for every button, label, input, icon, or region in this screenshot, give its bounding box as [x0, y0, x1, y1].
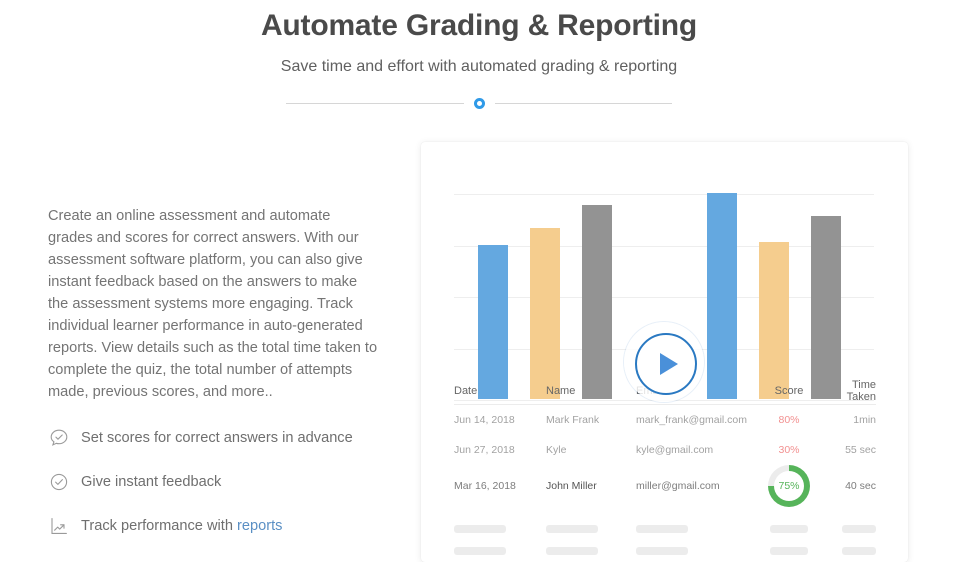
- cell-time-taken: 40 sec: [822, 480, 876, 492]
- placeholder-bar: [546, 547, 598, 555]
- page-title: Automate Grading & Reporting: [0, 6, 958, 46]
- placeholder-cell: [636, 525, 756, 533]
- score-donut-chart: 75%: [768, 465, 810, 507]
- placeholder-bar: [842, 547, 876, 555]
- feature-label-prefix: Track performance with: [81, 518, 237, 534]
- cell-date: Mar 16, 2018: [454, 480, 546, 492]
- table-row[interactable]: Mar 16, 2018John Millermiller@gmail.com7…: [454, 465, 876, 507]
- chart-bar: [478, 245, 508, 400]
- placeholder-bar: [454, 525, 506, 533]
- check-circle-icon: [48, 471, 70, 493]
- placeholder-bar: [842, 525, 876, 533]
- placeholder-cell: [546, 525, 636, 533]
- placeholder-bar: [454, 547, 506, 555]
- cell-date: Jun 27, 2018: [454, 444, 546, 456]
- cell-score: 80%: [756, 414, 822, 426]
- cell-email: mark_frank@gmail.com: [636, 414, 756, 426]
- table-row[interactable]: Jun 14, 2018Mark Frankmark_frank@gmail.c…: [454, 405, 876, 435]
- placeholder-bar: [636, 547, 688, 555]
- section-divider: [286, 96, 672, 110]
- placeholder-cell: [822, 525, 876, 533]
- divider-line-left: [286, 103, 464, 104]
- description-paragraph: Create an online assessment and automate…: [48, 205, 378, 403]
- feature-item-track-performance: Track performance with reports: [48, 515, 378, 537]
- cell-email: kyle@gmail.com: [636, 444, 756, 456]
- table-body: Jun 14, 2018Mark Frankmark_frank@gmail.c…: [454, 405, 876, 507]
- chart-bar: [707, 193, 737, 399]
- page-header: Automate Grading & Reporting Save time a…: [0, 0, 958, 110]
- cell-date: Jun 14, 2018: [454, 414, 546, 426]
- column-header-score: Score: [756, 385, 822, 397]
- cell-score: 30%: [756, 444, 822, 456]
- placeholder-cell: [454, 525, 546, 533]
- placeholder-cell: [756, 525, 822, 533]
- placeholder-rows: [454, 518, 876, 562]
- table-row[interactable]: Jun 27, 2018Kylekyle@gmail.com30%55 sec: [454, 435, 876, 465]
- column-header-name: Name: [546, 385, 636, 397]
- column-header-date: Date: [454, 385, 546, 397]
- score-donut-label: 75%: [778, 480, 799, 492]
- cell-time-taken: 55 sec: [822, 444, 876, 456]
- placeholder-bar: [546, 525, 598, 533]
- cell-score: 75%: [756, 465, 822, 507]
- play-button[interactable]: [635, 333, 697, 395]
- feature-label: Set scores for correct answers in advanc…: [81, 428, 353, 448]
- page-subtitle: Save time and effort with automated grad…: [0, 56, 958, 78]
- left-content-column: Create an online assessment and automate…: [48, 205, 378, 559]
- placeholder-cell: [546, 547, 636, 555]
- cell-name: Kyle: [546, 444, 636, 456]
- placeholder-row: [454, 540, 876, 562]
- placeholder-bar: [636, 525, 688, 533]
- cell-name: John Miller: [546, 480, 636, 492]
- cell-email: miller@gmail.com: [636, 480, 756, 492]
- feature-label: Track performance with reports: [81, 516, 282, 536]
- chat-check-icon: [48, 427, 70, 449]
- chart-bar: [811, 216, 841, 399]
- reports-link[interactable]: reports: [237, 518, 282, 534]
- placeholder-cell: [454, 547, 546, 555]
- divider-dot-icon: [474, 98, 485, 109]
- column-header-time-taken: Time Taken: [822, 379, 876, 403]
- placeholder-cell: [636, 547, 756, 555]
- divider-line-right: [495, 103, 673, 104]
- cell-time-taken: 1min: [822, 414, 876, 426]
- feature-list: Set scores for correct answers in advanc…: [48, 427, 378, 537]
- chart-bar: [582, 205, 612, 399]
- trending-up-chart-icon: [48, 515, 70, 537]
- placeholder-row: [454, 518, 876, 540]
- chart-bar: [759, 242, 789, 399]
- placeholder-cell: [822, 547, 876, 555]
- placeholder-bar: [770, 525, 808, 533]
- cell-name: Mark Frank: [546, 414, 636, 426]
- feature-item-instant-feedback: Give instant feedback: [48, 471, 378, 493]
- placeholder-bar: [770, 547, 808, 555]
- chart-bar: [530, 228, 560, 399]
- feature-label: Give instant feedback: [81, 472, 221, 492]
- placeholder-cell: [756, 547, 822, 555]
- play-button-wrapper[interactable]: [624, 322, 704, 402]
- feature-item-set-scores: Set scores for correct answers in advanc…: [48, 427, 378, 449]
- play-icon: [660, 353, 678, 375]
